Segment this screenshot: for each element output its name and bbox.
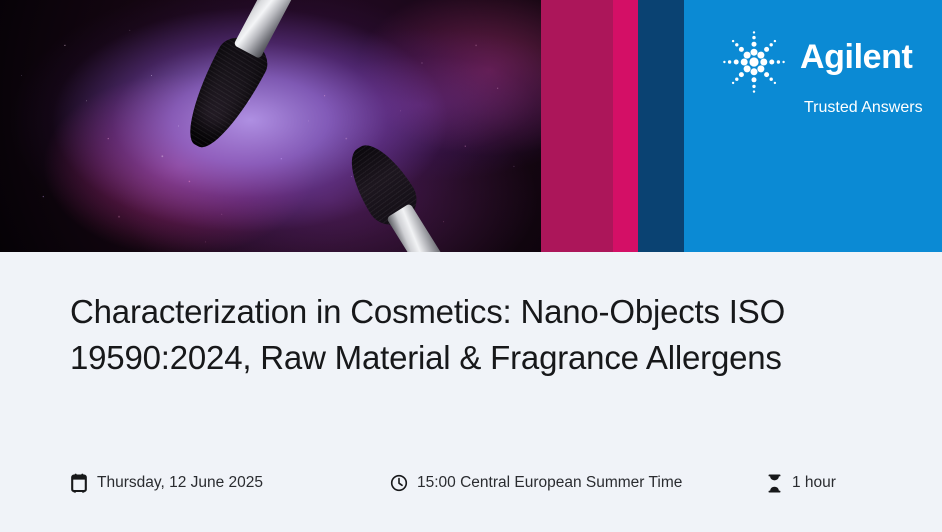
hero-photo-cosmetic-powder — [0, 0, 541, 252]
agilent-logo-lockup: Agilent Trusted Answers — [712, 22, 932, 132]
hourglass-icon — [765, 473, 783, 493]
agilent-starburst-icon — [718, 26, 790, 98]
color-band-magenta-bright — [613, 0, 638, 252]
event-details-panel: Characterization in Cosmetics: Nano-Obje… — [0, 252, 942, 532]
event-time-text: 15:00 Central European Summer Time — [417, 475, 682, 491]
color-band-navy — [638, 0, 684, 252]
page-title: Characterization in Cosmetics: Nano-Obje… — [70, 289, 890, 380]
event-date-text: Thursday, 12 June 2025 — [97, 475, 263, 491]
clock-icon — [390, 473, 408, 493]
calendar-icon — [70, 473, 88, 493]
hero-banner: Agilent Trusted Answers — [0, 0, 942, 252]
event-time: 15:00 Central European Summer Time — [390, 470, 682, 496]
color-band-magenta-dark — [541, 0, 613, 252]
event-duration: 1 hour — [765, 470, 836, 496]
agilent-wordmark: Agilent — [800, 40, 912, 74]
webinar-promo-page: Agilent Trusted Answers Characterization… — [0, 0, 942, 532]
event-date: Thursday, 12 June 2025 — [70, 470, 263, 496]
event-duration-text: 1 hour — [792, 475, 836, 491]
event-meta-row: Thursday, 12 June 2025 15:00 Central Eur… — [70, 470, 920, 496]
agilent-tagline: Trusted Answers — [804, 100, 923, 116]
